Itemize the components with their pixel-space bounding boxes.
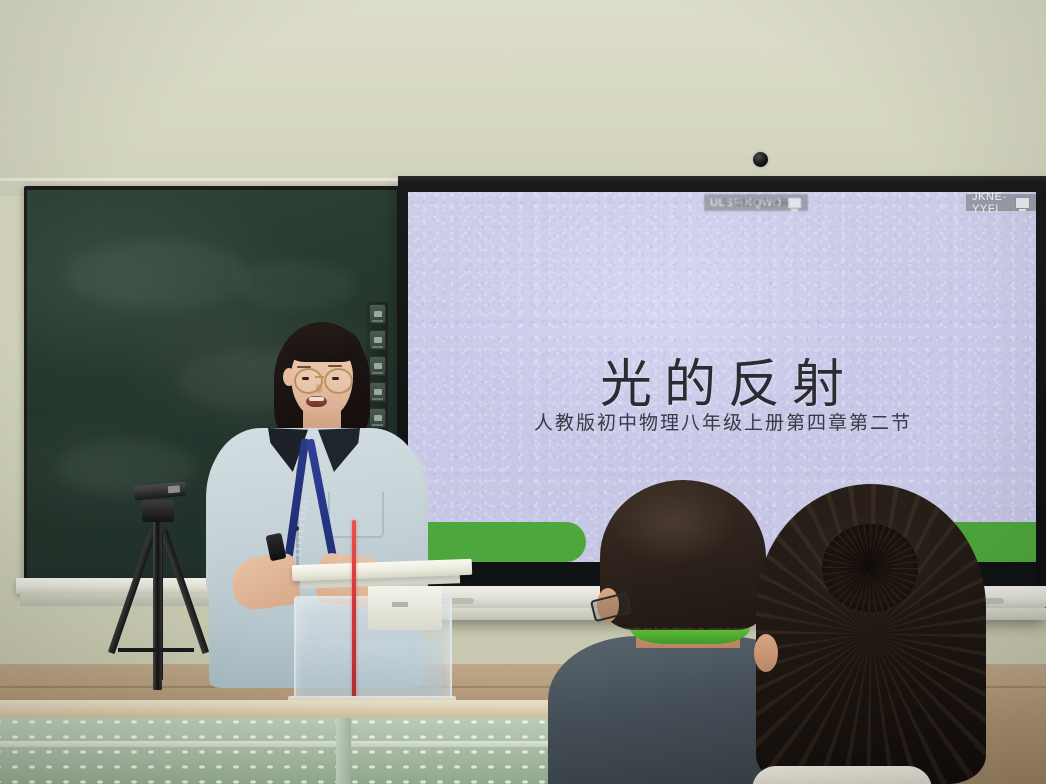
board-control-button-5[interactable]	[369, 408, 386, 428]
observer-front-right-ear	[754, 634, 778, 672]
board-control-button-1[interactable]	[369, 304, 386, 324]
tripod-column	[153, 520, 162, 690]
teacher-mouth	[306, 396, 327, 407]
slide-title: 光的反射	[408, 342, 1036, 417]
teacher-eyebrow-right	[328, 365, 342, 367]
tripod-head[interactable]	[142, 500, 174, 522]
control-glyph-icon	[374, 311, 382, 317]
connection-code-chip-left: ULSF-KQWO 手机投屏连接码	[704, 194, 808, 211]
control-glyph-icon	[374, 389, 382, 395]
control-glyph-icon	[374, 337, 382, 343]
chalk-smudge	[67, 240, 247, 310]
chalk-smudge	[237, 260, 357, 310]
student-desk-panel	[0, 718, 594, 784]
shirt-pocket	[328, 492, 384, 538]
eyeglasses-bridge-icon	[315, 376, 324, 378]
teacher-fringe	[285, 326, 361, 362]
wall-upper-section	[0, 0, 1046, 196]
reflection-apparatus-box	[368, 586, 442, 630]
slide-accent-bar-left	[408, 522, 586, 562]
bun-strand-texture	[822, 524, 918, 612]
board-control-button-4[interactable]	[369, 382, 386, 402]
desk-rail	[0, 741, 594, 747]
eyeglasses-lens-right	[324, 368, 353, 394]
board-control-button-3[interactable]	[369, 356, 386, 376]
slide-subtitle: 人教版初中物理八年级上册第四章第二节	[408, 408, 1036, 435]
camera-lens-icon	[751, 150, 770, 169]
desk-leg	[336, 718, 351, 784]
hair-bun	[822, 524, 918, 612]
control-glyph-icon	[374, 363, 382, 369]
teacher-eye-left	[302, 377, 309, 380]
tripod-spreader	[118, 648, 194, 652]
connection-code-right-label: JKNE-YYFI	[972, 192, 1010, 215]
observer-front-right-collar	[752, 766, 932, 784]
container-water-level	[300, 640, 442, 696]
monitor-icon	[1015, 197, 1030, 209]
control-glyph-icon	[374, 415, 382, 421]
teacher-eye-right	[332, 377, 339, 380]
connection-code-chip-right: JKNE-YYFI	[966, 194, 1036, 211]
board-control-button-2[interactable]	[369, 330, 386, 350]
student-desk-top	[0, 700, 594, 720]
classroom-photo-scene: ULSF-KQWO 手机投屏连接码 JKNE-YYFI 光的反射 人教版初中物理…	[0, 0, 1046, 784]
desk-perforation-pattern	[0, 718, 594, 784]
teacher-ear	[283, 368, 295, 386]
apparatus-label	[392, 602, 408, 607]
red-laser-rod	[352, 520, 356, 698]
observer-front-left-lanyard	[630, 628, 750, 644]
teacher-nose	[316, 384, 322, 393]
connection-code-left-ghost: 手机投屏连接码	[704, 194, 808, 211]
